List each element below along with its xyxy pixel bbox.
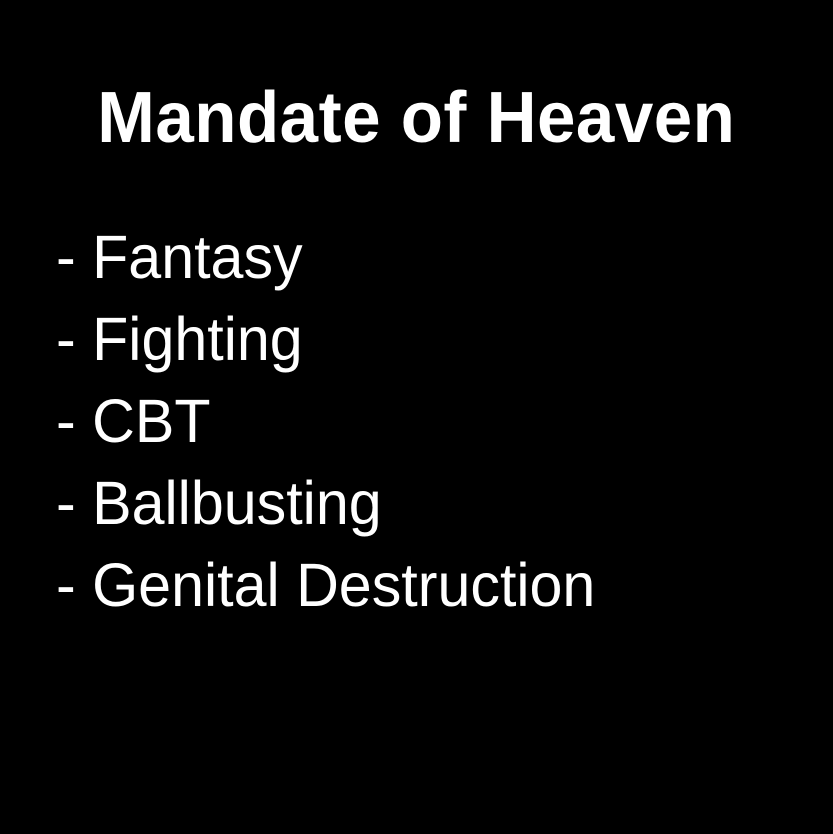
page-title: Mandate of Heaven <box>97 82 735 154</box>
bullet-text: Ballbusting <box>92 462 381 544</box>
bullet-marker: - <box>56 462 76 544</box>
slide-canvas: Mandate of Heaven - Fantasy - Fighting -… <box>0 0 833 834</box>
title-block: Mandate of Heaven <box>0 34 833 202</box>
bullet-text: Fighting <box>92 298 303 380</box>
list-item: - Fighting <box>56 298 793 380</box>
list-item: - Ballbusting <box>56 462 793 544</box>
bullet-marker: - <box>56 380 76 462</box>
bullet-text: CBT <box>92 380 210 462</box>
list-item: - Genital Destruction <box>56 544 793 626</box>
bullet-marker: - <box>56 216 76 298</box>
bullet-marker: - <box>56 298 76 380</box>
list-item: - Fantasy <box>56 216 793 298</box>
bullet-marker: - <box>56 544 76 626</box>
bullet-list: - Fantasy - Fighting - CBT - Ballbusting… <box>56 216 816 626</box>
bullet-text: Genital Destruction <box>92 544 595 626</box>
bullet-text: Fantasy <box>92 216 302 298</box>
list-item: - CBT <box>56 380 793 462</box>
